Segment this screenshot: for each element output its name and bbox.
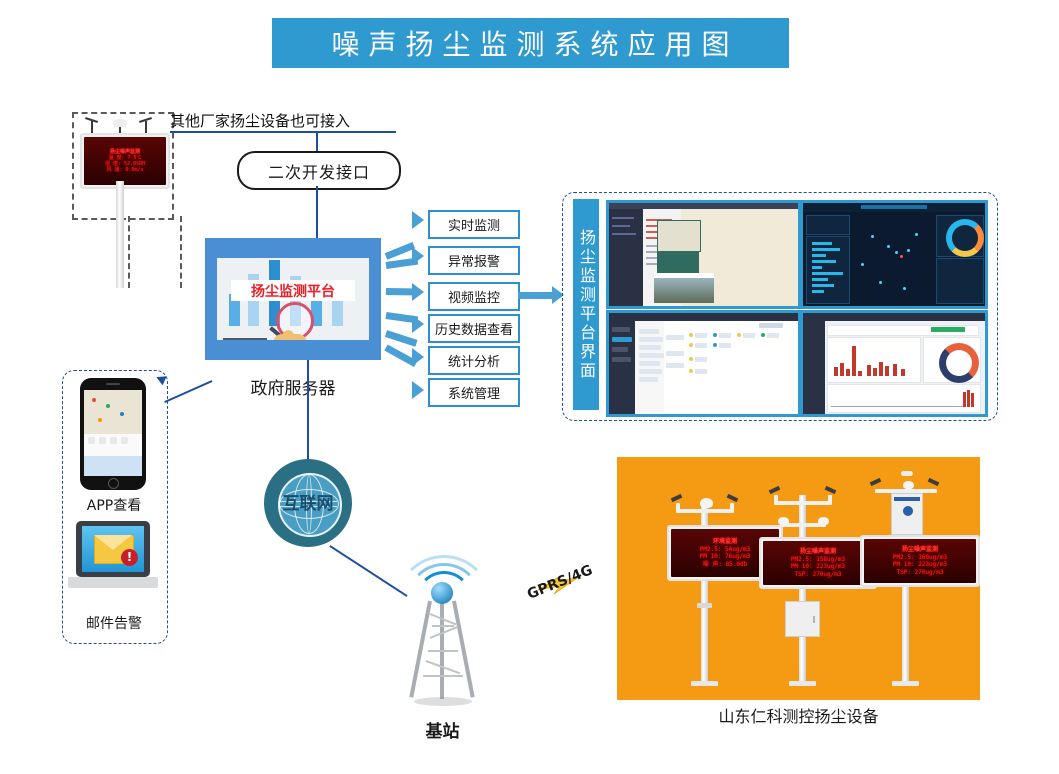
field-device-2-cabinet xyxy=(785,601,820,637)
menu-to-dashboard-arrow xyxy=(518,292,554,299)
menu-label: 统计分析 xyxy=(448,351,500,370)
menu-label: 视频监控 xyxy=(448,287,500,306)
laptop-keyboard xyxy=(68,577,158,588)
menu-label: 实时监测 xyxy=(448,215,500,234)
menu-item-abnormal-alarm[interactable]: 异常报警 xyxy=(428,246,520,275)
menu-item-history-data[interactable]: 历史数据查看 xyxy=(428,314,520,343)
laptop-illustration: ! xyxy=(68,521,158,593)
government-server-label: 政府服务器 xyxy=(205,374,381,399)
note-underline xyxy=(170,131,396,133)
field-equipment-caption: 山东仁科测控扬尘设备 xyxy=(617,703,980,727)
platform-keyboard xyxy=(223,338,267,340)
device-board-line-3: 风 速: 0.0m/s xyxy=(84,167,166,173)
menu-label: 系统管理 xyxy=(448,383,500,402)
menu-label: 异常报警 xyxy=(448,251,500,270)
menu-item-statistics-analysis[interactable]: 统计分析 xyxy=(428,346,520,375)
field-device-2: 扬尘噪声监测 PM2.5: 158ug/m3 PM 10: 223ug/m3 T… xyxy=(762,479,872,689)
device-pole xyxy=(116,181,124,288)
dashboard-screenshot-admin-table[interactable] xyxy=(606,310,801,417)
tower-antenna-ball-icon xyxy=(431,582,453,604)
field-device-3: 扬尘噪声监测 PM2.5: 160ug/m3 PM 10: 223ug/m3 T… xyxy=(865,467,980,689)
dashboard-screenshot-statistics[interactable] xyxy=(800,310,988,417)
dust-monitoring-platform-illustration: 扬尘监测平台 xyxy=(205,238,381,360)
app-view-label: APP查看 xyxy=(62,495,166,515)
menu-label: 历史数据查看 xyxy=(435,319,513,338)
phone-screen xyxy=(84,390,142,476)
phone-home-button[interactable] xyxy=(108,478,119,489)
field-board-3-line-3: TSP: 270ug/m3 xyxy=(864,569,976,577)
page-title: 噪声扬尘监测系统应用图 xyxy=(322,23,738,63)
field-equipment-photo: 环境监测 PM2.5: 54ug/m3 PM 10: 76ug/m3 噪 声: … xyxy=(617,457,980,700)
dashboard-screenshot-map-monitor[interactable] xyxy=(606,200,801,309)
platform-ui-vertical-label: 扬尘监测平台界面 xyxy=(573,199,599,410)
field-board-3-line-2: PM 10: 223ug/m3 xyxy=(864,561,976,569)
note-to-api-connector xyxy=(316,131,318,152)
field-board-2-line-1: PM2.5: 158ug/m3 xyxy=(763,556,873,564)
platform-screen-label-box: 扬尘监测平台 xyxy=(231,280,355,301)
field-device-3-enclosure xyxy=(891,493,923,535)
page-title-banner: 噪声扬尘监测系统应用图 xyxy=(272,18,789,68)
field-board-2-title: 扬尘噪声监测 xyxy=(763,548,873,556)
field-board-3-line-1: PM2.5: 160ug/m3 xyxy=(864,554,976,562)
menu-item-system-management[interactable]: 系统管理 xyxy=(428,378,520,407)
third-party-note: 其他厂家扬尘设备也可接入 xyxy=(170,110,350,131)
menu-item-realtime-monitoring[interactable]: 实时监测 xyxy=(428,210,520,239)
platform-ui-vertical-label-text: 扬尘监测平台界面 xyxy=(578,229,594,381)
device-dash-pole-right xyxy=(180,216,182,288)
platform-to-app-arrow xyxy=(150,358,210,386)
platform-to-internet-connector xyxy=(307,360,309,460)
device-dash-pole-left xyxy=(128,216,130,288)
secondary-development-interface-box[interactable]: 二次开发接口 xyxy=(237,151,401,190)
third-party-led-board: 扬尘噪声监测 温 度: 7.5℃ 湿 度: 52.0%RH 风 速: 0.0m/… xyxy=(80,133,170,189)
platform-screen-label: 扬尘监测平台 xyxy=(251,281,335,301)
gprs-4g-label: GPRS/4G xyxy=(525,562,595,603)
menu-item-video-surveillance[interactable]: 视频监控 xyxy=(428,282,520,311)
mail-alert-label: 邮件告警 xyxy=(62,613,166,633)
field-board-3-title: 扬尘噪声监测 xyxy=(864,546,976,554)
alert-badge-icon: ! xyxy=(121,549,138,566)
base-station-label: 基站 xyxy=(395,717,490,742)
internet-label: 互联网 xyxy=(264,489,352,514)
dashboard-screenshot-dark-gis[interactable] xyxy=(800,200,988,309)
mobile-phone-illustration xyxy=(80,378,146,490)
field-board-2-line-3: TSP: 270ug/m3 xyxy=(763,571,873,579)
api-box-label: 二次开发接口 xyxy=(268,159,370,183)
field-board-2-line-2: PM 10: 223ug/m3 xyxy=(763,563,873,571)
api-to-platform-connector xyxy=(316,186,318,238)
